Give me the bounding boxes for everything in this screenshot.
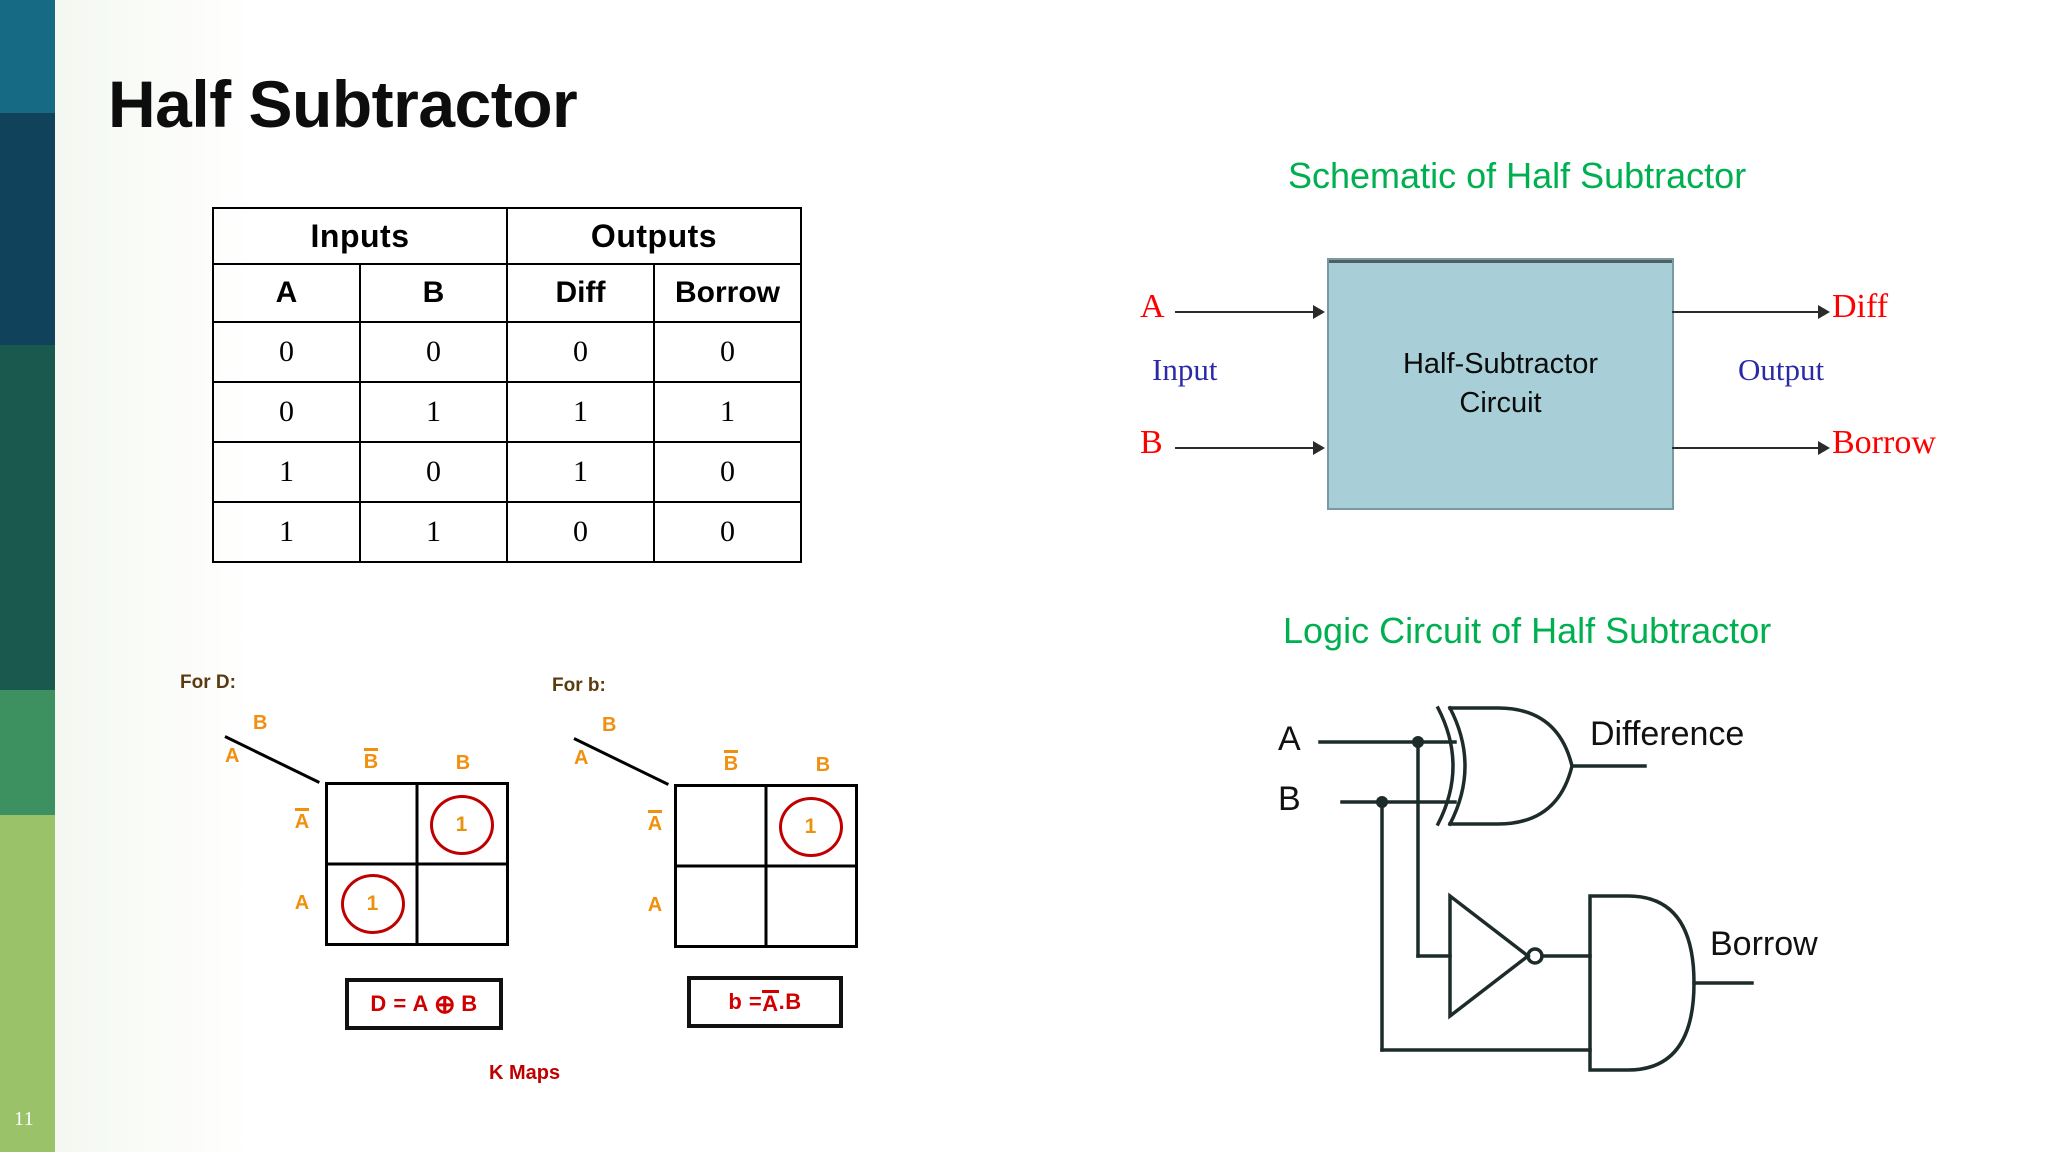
xor-gate-body (1450, 708, 1572, 824)
schematic-title: Schematic of Half Subtractor (1288, 155, 1746, 197)
kmap-b-cell-00 (677, 787, 766, 866)
schematic-block: Half-Subtractor Circuit (1327, 258, 1674, 510)
schematic-output-borrow: Borrow (1832, 424, 1936, 462)
schematic-block-line2: Circuit (1403, 384, 1598, 423)
kmap-b-formula-lhs: b = (728, 989, 762, 1015)
schematic-block-line1: Half-Subtractor (1403, 345, 1598, 384)
schematic-output-side: Output (1738, 352, 1824, 388)
kmap-caption-b: For b: (552, 675, 606, 697)
logic-circuit-diagram: A B Difference Borrow (1290, 690, 1910, 1110)
kmap-b-formula-overlined: A (762, 990, 778, 1015)
schematic-arrow-diff (1818, 305, 1830, 319)
logic-input-b-label: B (1278, 780, 1301, 819)
schematic-output-diff: Diff (1832, 288, 1888, 326)
and-gate-body (1590, 896, 1694, 1070)
slide-canvas: 11 Half Subtractor Inputs Outputs A B Di… (0, 0, 2048, 1152)
kmap-b-minterm-circle: 1 (779, 797, 843, 857)
kmap-b-cell-01: 1 (766, 787, 855, 866)
kmap-b-col-label-1: B (800, 754, 846, 777)
logic-output-borrow: Borrow (1710, 925, 1818, 964)
xor-gate-back-arc (1438, 708, 1453, 824)
logic-output-difference: Difference (1590, 715, 1744, 754)
kmap-b-grid: 1 (674, 784, 858, 948)
kmaps-section-label: K Maps (489, 1062, 560, 1085)
schematic-arrow-a (1313, 305, 1325, 319)
schematic-arrow-b (1313, 441, 1325, 455)
kmap-b-cell-10 (677, 866, 766, 945)
not-gate-triangle (1450, 896, 1528, 1016)
kmap-b-row-label-0: A (640, 810, 670, 836)
schematic-wire-borrow (1672, 447, 1820, 449)
kmap-b-formula: b = A .B (687, 976, 843, 1028)
logic-input-a-label: A (1278, 720, 1301, 759)
schematic-wire-b (1175, 447, 1315, 449)
schematic-arrow-borrow (1818, 441, 1830, 455)
schematic-input-side: Input (1152, 352, 1217, 388)
kmap-b-formula-rhs: .B (779, 989, 802, 1015)
schematic-wire-a (1175, 311, 1315, 313)
kmap-b-corner-top: B (602, 714, 616, 737)
kmap-b-col-label-0: B (708, 750, 754, 776)
kmap-b-cell-11 (766, 866, 855, 945)
kmap-b-corner-bottom: A (574, 747, 588, 770)
schematic-input-a-label: A (1140, 288, 1165, 326)
kmap-b-row-label-1: A (640, 894, 670, 917)
schematic-input-b-label: B (1140, 424, 1163, 462)
logic-circuit-title: Logic Circuit of Half Subtractor (1283, 610, 1771, 652)
schematic-wire-diff (1672, 311, 1820, 313)
